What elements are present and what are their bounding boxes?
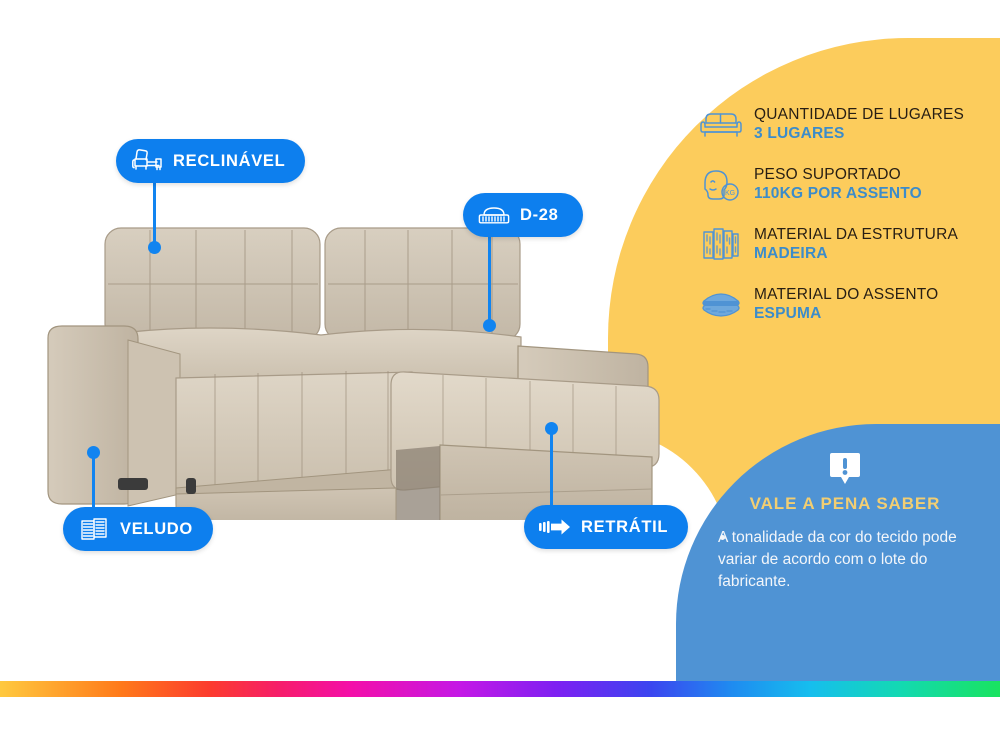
foam-layers-icon <box>698 284 744 326</box>
spec-value: 3 LUGARES <box>754 124 964 144</box>
badge-reclinavel[interactable]: RECLINÁVEL <box>116 139 305 183</box>
notice-title: VALE A PENA SABER <box>700 494 990 514</box>
badge-label: D-28 <box>520 206 559 225</box>
badge-veludo[interactable]: VELUDO <box>63 507 213 551</box>
sofa-icon <box>698 104 744 146</box>
spec-label: PESO SUPORTADO <box>754 165 922 184</box>
mattress-icon <box>477 200 511 230</box>
leader-line-veludo <box>92 452 95 508</box>
spec-value: 110KG POR ASSENTO <box>754 184 922 204</box>
spec-label: MATERIAL DO ASSENTO <box>754 285 938 304</box>
spec-label: MATERIAL DA ESTRUTURA <box>754 225 958 244</box>
spec-text: MATERIAL DA ESTRUTURA MADEIRA <box>754 224 958 264</box>
wood-planks-icon <box>698 224 744 266</box>
spec-value: MADEIRA <box>754 244 958 264</box>
notice-body: A tonalidade da cor do tecido pode varia… <box>700 527 990 593</box>
leader-dot-d28 <box>483 319 496 332</box>
spec-text: PESO SUPORTADO 110KG POR ASSENTO <box>754 164 922 204</box>
notice-body-text: A tonalidade da cor do tecido pode varia… <box>718 529 957 590</box>
spec-row-quantidade-de-lugares: QUANTIDADE DE LUGARES 3 LUGARES <box>698 104 994 146</box>
leader-dot-veludo <box>87 446 100 459</box>
infographic-canvas: RECLINÁVEL D-28 VELUDO <box>0 0 1000 750</box>
spec-row-material-da-estrutura: MATERIAL DA ESTRUTURA MADEIRA <box>698 224 994 266</box>
leader-line-d28 <box>488 237 491 325</box>
spec-text: MATERIAL DO ASSENTO ESPUMA <box>754 284 938 324</box>
badge-label: RECLINÁVEL <box>173 152 285 171</box>
badge-d28[interactable]: D-28 <box>463 193 583 237</box>
leader-dot-reclinavel <box>148 241 161 254</box>
recliner-icon <box>130 146 164 176</box>
weight-head-icon: KG <box>698 164 744 206</box>
spec-row-peso-suportado: KG PESO SUPORTADO 110KG POR ASSENTO <box>698 164 994 206</box>
spec-label: QUANTIDADE DE LUGARES <box>754 105 964 124</box>
arrow-pull-icon <box>538 512 572 542</box>
notice-bullet <box>720 535 725 540</box>
leader-dot-retratil <box>545 422 558 435</box>
spec-text: QUANTIDADE DE LUGARES 3 LUGARES <box>754 104 964 144</box>
rainbow-divider <box>0 681 1000 697</box>
badge-retratil[interactable]: RETRÁTIL <box>524 505 688 549</box>
badge-label: RETRÁTIL <box>581 518 668 537</box>
badge-label: VELUDO <box>120 520 193 539</box>
spec-value: ESPUMA <box>754 304 938 324</box>
rainbow-mask-blue <box>676 663 1000 681</box>
spec-row-material-do-assento: MATERIAL DO ASSENTO ESPUMA <box>698 284 994 326</box>
product-image-sofa <box>0 150 700 520</box>
leader-line-retratil <box>550 428 553 506</box>
fabric-icon <box>77 514 111 544</box>
alert-exclamation-icon <box>824 452 866 488</box>
notice-block: VALE A PENA SABER A tonalidade da cor do… <box>700 452 990 593</box>
svg-text:KG: KG <box>725 190 735 197</box>
spec-list: QUANTIDADE DE LUGARES 3 LUGARES KG PESO … <box>698 104 994 344</box>
leader-line-reclinavel <box>153 183 156 247</box>
